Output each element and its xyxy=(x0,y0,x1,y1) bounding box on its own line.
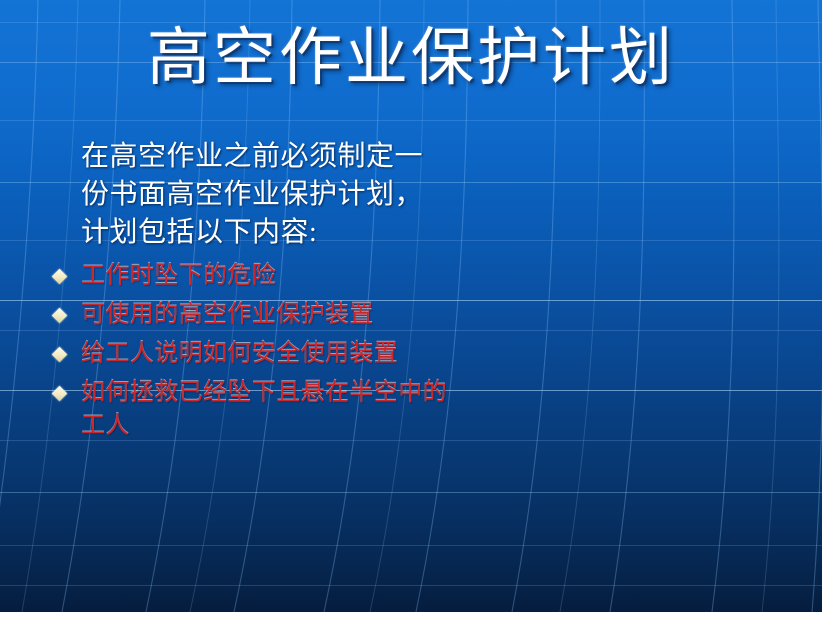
bottom-letterbox xyxy=(0,612,822,619)
title-area: 高空作业保护计划 xyxy=(0,24,822,92)
list-item-label: 可使用的高空作业保护装置 xyxy=(81,302,374,328)
diamond-bullet-icon xyxy=(52,308,68,324)
list-item-label: 如何拯救已经坠下且悬在半空中的工人 xyxy=(81,380,447,439)
list-item-label: 给工人说明如何安全使用装置 xyxy=(81,341,398,367)
intro-paragraph: 在高空作业之前必须制定一份书面高空作业保护计划，计划包括以下内容: xyxy=(48,138,448,252)
slide-title: 高空作业保护计划 xyxy=(147,24,675,92)
content-area: 在高空作业之前必须制定一份书面高空作业保护计划，计划包括以下内容: 工作时坠下的… xyxy=(48,138,448,449)
diamond-bullet-icon xyxy=(52,269,68,285)
list-item-label: 工作时坠下的危险 xyxy=(81,263,276,289)
presentation-slide: 高空作业保护计划 在高空作业之前必须制定一份书面高空作业保护计划，计划包括以下内… xyxy=(0,0,822,619)
diamond-bullet-icon xyxy=(52,347,68,363)
slide-background: 高空作业保护计划 在高空作业之前必须制定一份书面高空作业保护计划，计划包括以下内… xyxy=(0,0,822,612)
list-item: 如何拯救已经坠下且悬在半空中的工人 xyxy=(48,377,448,443)
bullet-list: 工作时坠下的危险 可使用的高空作业保护装置 给工人说明如何安全使用装置 如何拯救… xyxy=(48,260,448,443)
list-item: 工作时坠下的危险 xyxy=(48,260,448,293)
diamond-bullet-icon xyxy=(52,386,68,402)
list-item: 给工人说明如何安全使用装置 xyxy=(48,338,448,371)
list-item: 可使用的高空作业保护装置 xyxy=(48,299,448,332)
